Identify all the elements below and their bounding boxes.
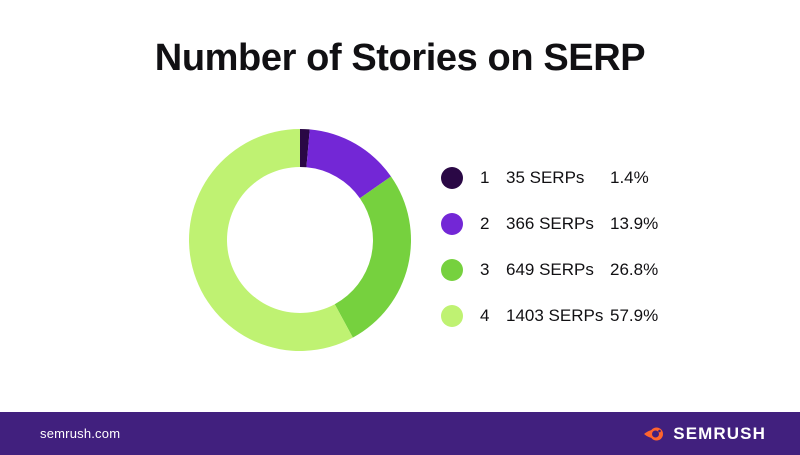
legend-value: 35 SERPs: [506, 168, 603, 188]
legend-index: 2: [480, 214, 506, 234]
legend-row[interactable]: 3649 SERPs26.8%: [441, 258, 701, 281]
legend-color-swatch-icon: [441, 167, 463, 189]
legend-row[interactable]: 41403 SERPs57.9%: [441, 304, 701, 327]
chart-legend: 135 SERPs1.4%2366 SERPs13.9%3649 SERPs26…: [441, 166, 701, 327]
legend-value: 366 SERPs: [506, 214, 603, 234]
page-title: Number of Stories on SERP: [0, 36, 800, 82]
legend-value: 649 SERPs: [506, 260, 603, 280]
brand-lockup: SEMRUSH: [643, 412, 766, 455]
legend-color-swatch-icon: [441, 305, 463, 327]
semrush-comet-icon: [643, 426, 665, 442]
legend-row[interactable]: 135 SERPs1.4%: [441, 166, 701, 189]
legend-index: 1: [480, 168, 506, 188]
donut-chart-svg: [189, 129, 411, 351]
legend-percent: 13.9%: [610, 214, 658, 234]
legend-percent: 57.9%: [610, 306, 658, 326]
legend-index: 4: [480, 306, 506, 326]
legend-percent: 1.4%: [610, 168, 649, 188]
footer-website-url[interactable]: semrush.com: [40, 412, 120, 455]
legend-percent: 26.8%: [610, 260, 658, 280]
footer-bar: semrush.com SEMRUSH: [0, 412, 800, 455]
brand-name: SEMRUSH: [673, 424, 766, 444]
donut-slice-3[interactable]: [335, 176, 411, 337]
legend-index: 3: [480, 260, 506, 280]
legend-row[interactable]: 2366 SERPs13.9%: [441, 212, 701, 235]
donut-slice-group: [189, 129, 411, 351]
infographic-card: Number of Stories on SERP 135 SERPs1.4%2…: [0, 0, 800, 455]
donut-chart: [189, 129, 411, 351]
legend-color-swatch-icon: [441, 213, 463, 235]
legend-value: 1403 SERPs: [506, 306, 603, 326]
legend-color-swatch-icon: [441, 259, 463, 281]
